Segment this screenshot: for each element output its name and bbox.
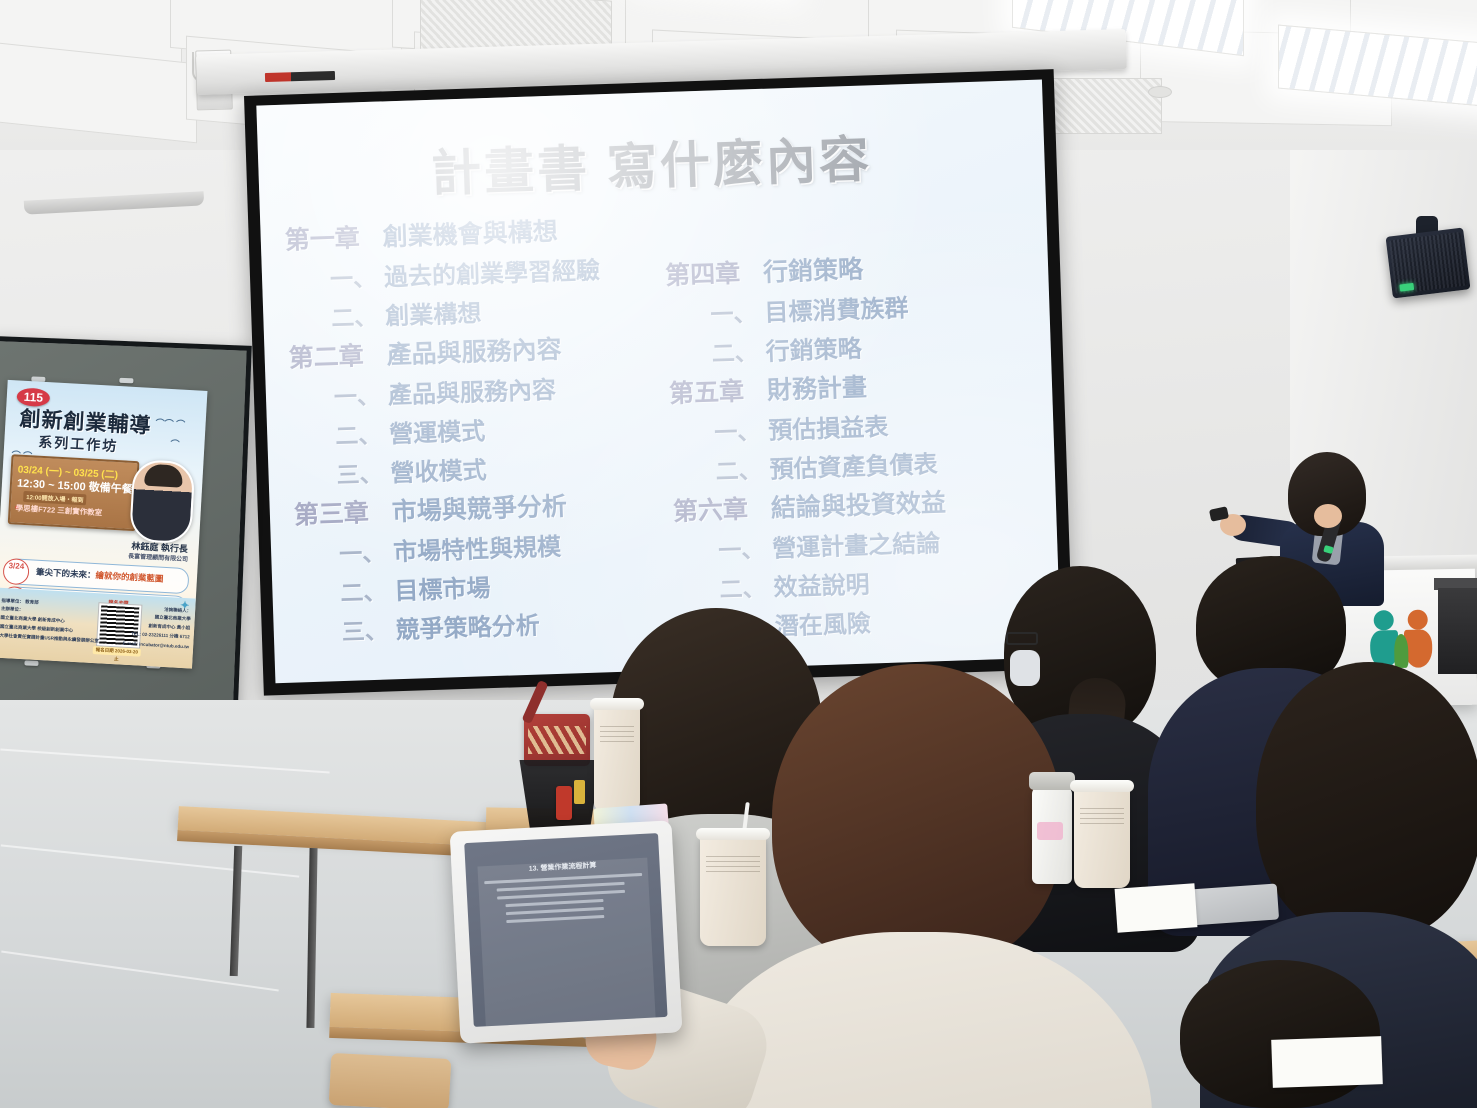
item-text: 效益說明 xyxy=(773,565,870,603)
slide-right-column: 第四章 行銷策略 一、 目標消費族群 二、 行銷策略 第五章 xyxy=(657,196,1036,649)
cup-lid xyxy=(696,828,770,840)
item-text: 競爭策略分析 xyxy=(395,605,540,645)
item-number: 一、 xyxy=(295,533,394,570)
item-number: 一、 xyxy=(289,376,388,413)
chair xyxy=(329,1053,452,1108)
item-text: 目標市場 xyxy=(394,568,491,606)
item-text: 營運計畫之結論 xyxy=(772,523,941,564)
chapter-title: 市場與競爭分析 xyxy=(391,487,567,529)
eyeglasses-icon xyxy=(1006,632,1038,645)
slide-title: 計畫書 寫什麼內容 xyxy=(275,114,1027,211)
item-text: 行銷策略 xyxy=(765,329,862,367)
water-bottle xyxy=(1032,786,1072,884)
item-text: 預估資產負債表 xyxy=(769,444,938,485)
item-number: 二、 xyxy=(675,569,774,606)
session-date: 3/24 xyxy=(2,558,29,585)
item-text: 目標消費族群 xyxy=(764,288,909,328)
workshop-poster: ︵︵ ︵ ︵ ︵ ︵ 115 創新創業輔導 系列工作坊 03/24 (一) ~ … xyxy=(0,380,207,669)
chapter-label: 第四章 xyxy=(665,253,764,292)
chapter-label: 第二章 xyxy=(288,335,387,374)
chapter-title: 產品與服務內容 xyxy=(386,330,562,372)
doc-text-line xyxy=(506,915,604,923)
item-number: 一、 xyxy=(670,412,769,449)
cup-lid xyxy=(590,698,644,710)
face-mask xyxy=(1010,650,1040,686)
chapter-row: 第三章 市場與競爭分析 xyxy=(293,484,653,532)
keychain xyxy=(574,780,585,804)
pouch-pattern xyxy=(528,726,586,754)
speaker-photo-hair xyxy=(144,464,183,488)
item-number: 二、 xyxy=(291,415,390,452)
projection-screen: 計畫書 寫什麼內容 第一章 創業機會與構想 一、 過去的創業學習經驗 二、 xyxy=(244,69,1073,696)
item-text: 過去的創業學習經驗 xyxy=(383,250,600,292)
item-number: 二、 xyxy=(287,297,386,334)
side-table xyxy=(1438,588,1477,674)
presenter-hand xyxy=(1314,504,1342,528)
doc-text-line xyxy=(497,890,625,900)
item-number: 三、 xyxy=(292,454,391,491)
tablet-screen[interactable]: 13. 營業作業流程計算 xyxy=(464,833,667,1027)
poster-subtitle: 系列工作坊 xyxy=(38,432,119,456)
item-number: 二、 xyxy=(671,451,770,488)
chapter-label: 第一章 xyxy=(284,217,383,256)
poster-clip xyxy=(119,378,133,384)
smoke-detector xyxy=(1148,86,1172,98)
bottle-sticker xyxy=(1037,822,1063,840)
bottle-cap xyxy=(1029,772,1075,790)
item-text: 潛在風險 xyxy=(774,604,871,642)
chapter-label: 第五章 xyxy=(668,371,767,410)
speaker-photo xyxy=(129,459,195,544)
cup-label xyxy=(1080,808,1124,824)
cup-label xyxy=(600,726,634,742)
chapter-row: 第六章 結論與投資效益 xyxy=(672,480,1032,528)
poster-date-board: 03/24 (一) ~ 03/25 (二) 12:30 ~ 15:00 敬備午餐… xyxy=(8,454,140,531)
item-text: 市場特性與規模 xyxy=(393,527,562,568)
doc-text-line xyxy=(506,907,604,915)
session-title: 筆尖下的未來：繪就你的創業藍圖 xyxy=(36,566,164,585)
item-number: 三、 xyxy=(297,611,396,648)
wall-speaker xyxy=(1386,227,1471,298)
decorated-pouch xyxy=(524,714,590,766)
milk-tea-cup xyxy=(700,836,766,946)
chapter-label: 第三章 xyxy=(293,492,392,531)
chapter-title: 行銷策略 xyxy=(762,250,863,289)
chapter-row: 第一章 創業機會與構想 xyxy=(284,209,644,257)
screen-surface: 計畫書 寫什麼內容 第一章 創業機會與構想 一、 過去的創業學習經驗 二、 xyxy=(256,80,1061,684)
doc-text-line xyxy=(505,899,603,907)
notebook-paper xyxy=(1115,883,1198,932)
item-text: 營收模式 xyxy=(390,450,487,488)
chapter-title: 財務計畫 xyxy=(766,368,867,407)
item-row: 三、 競爭策略分析 xyxy=(297,602,657,649)
paper-cup xyxy=(594,706,640,812)
keychain xyxy=(556,786,572,820)
slide-left-column: 第一章 創業機會與構想 一、 過去的創業學習經驗 二、 創業構想 第二章 xyxy=(284,209,657,662)
poster-clip xyxy=(24,660,38,666)
chapter-title: 結論與投資效益 xyxy=(770,483,946,525)
chapter-row: 第二章 產品與服務內容 xyxy=(288,327,648,375)
item-text: 創業構想 xyxy=(385,293,482,331)
item-text: 營運模式 xyxy=(389,411,486,449)
chapter-title: 創業機會與構想 xyxy=(382,212,558,254)
chapter-label: 第六章 xyxy=(672,489,771,528)
item-number: 一、 xyxy=(674,530,773,567)
item-number: 二、 xyxy=(296,572,395,609)
item-text: 產品與服務內容 xyxy=(387,370,556,411)
item-number: 二、 xyxy=(667,333,766,370)
classroom-photo: 計畫書 寫什麼內容 第一章 創業機會與構想 一、 過去的創業學習經驗 二、 xyxy=(0,0,1477,1108)
cup-brand-label xyxy=(706,856,760,872)
presentation-slide: 計畫書 寫什麼內容 第一章 創業機會與構想 一、 過去的創業學習經驗 二、 xyxy=(256,80,1061,684)
item-number: 一、 xyxy=(286,258,385,295)
tall-cup xyxy=(1074,788,1130,888)
chapter-row: 第五章 財務計畫 xyxy=(668,362,1028,410)
notebook-paper xyxy=(1271,1036,1383,1088)
poster-place: 學思樓F722 三創實作教室 xyxy=(15,502,102,518)
cup-lid xyxy=(1070,780,1134,792)
tablet-device[interactable]: 13. 營業作業流程計算 xyxy=(450,820,683,1043)
organizer-line: 主辦單位： xyxy=(1,606,24,613)
item-number: 一、 xyxy=(666,294,765,331)
tablet-document: 13. 營業作業流程計算 xyxy=(477,858,655,1027)
item-text: 預估損益表 xyxy=(768,407,889,446)
